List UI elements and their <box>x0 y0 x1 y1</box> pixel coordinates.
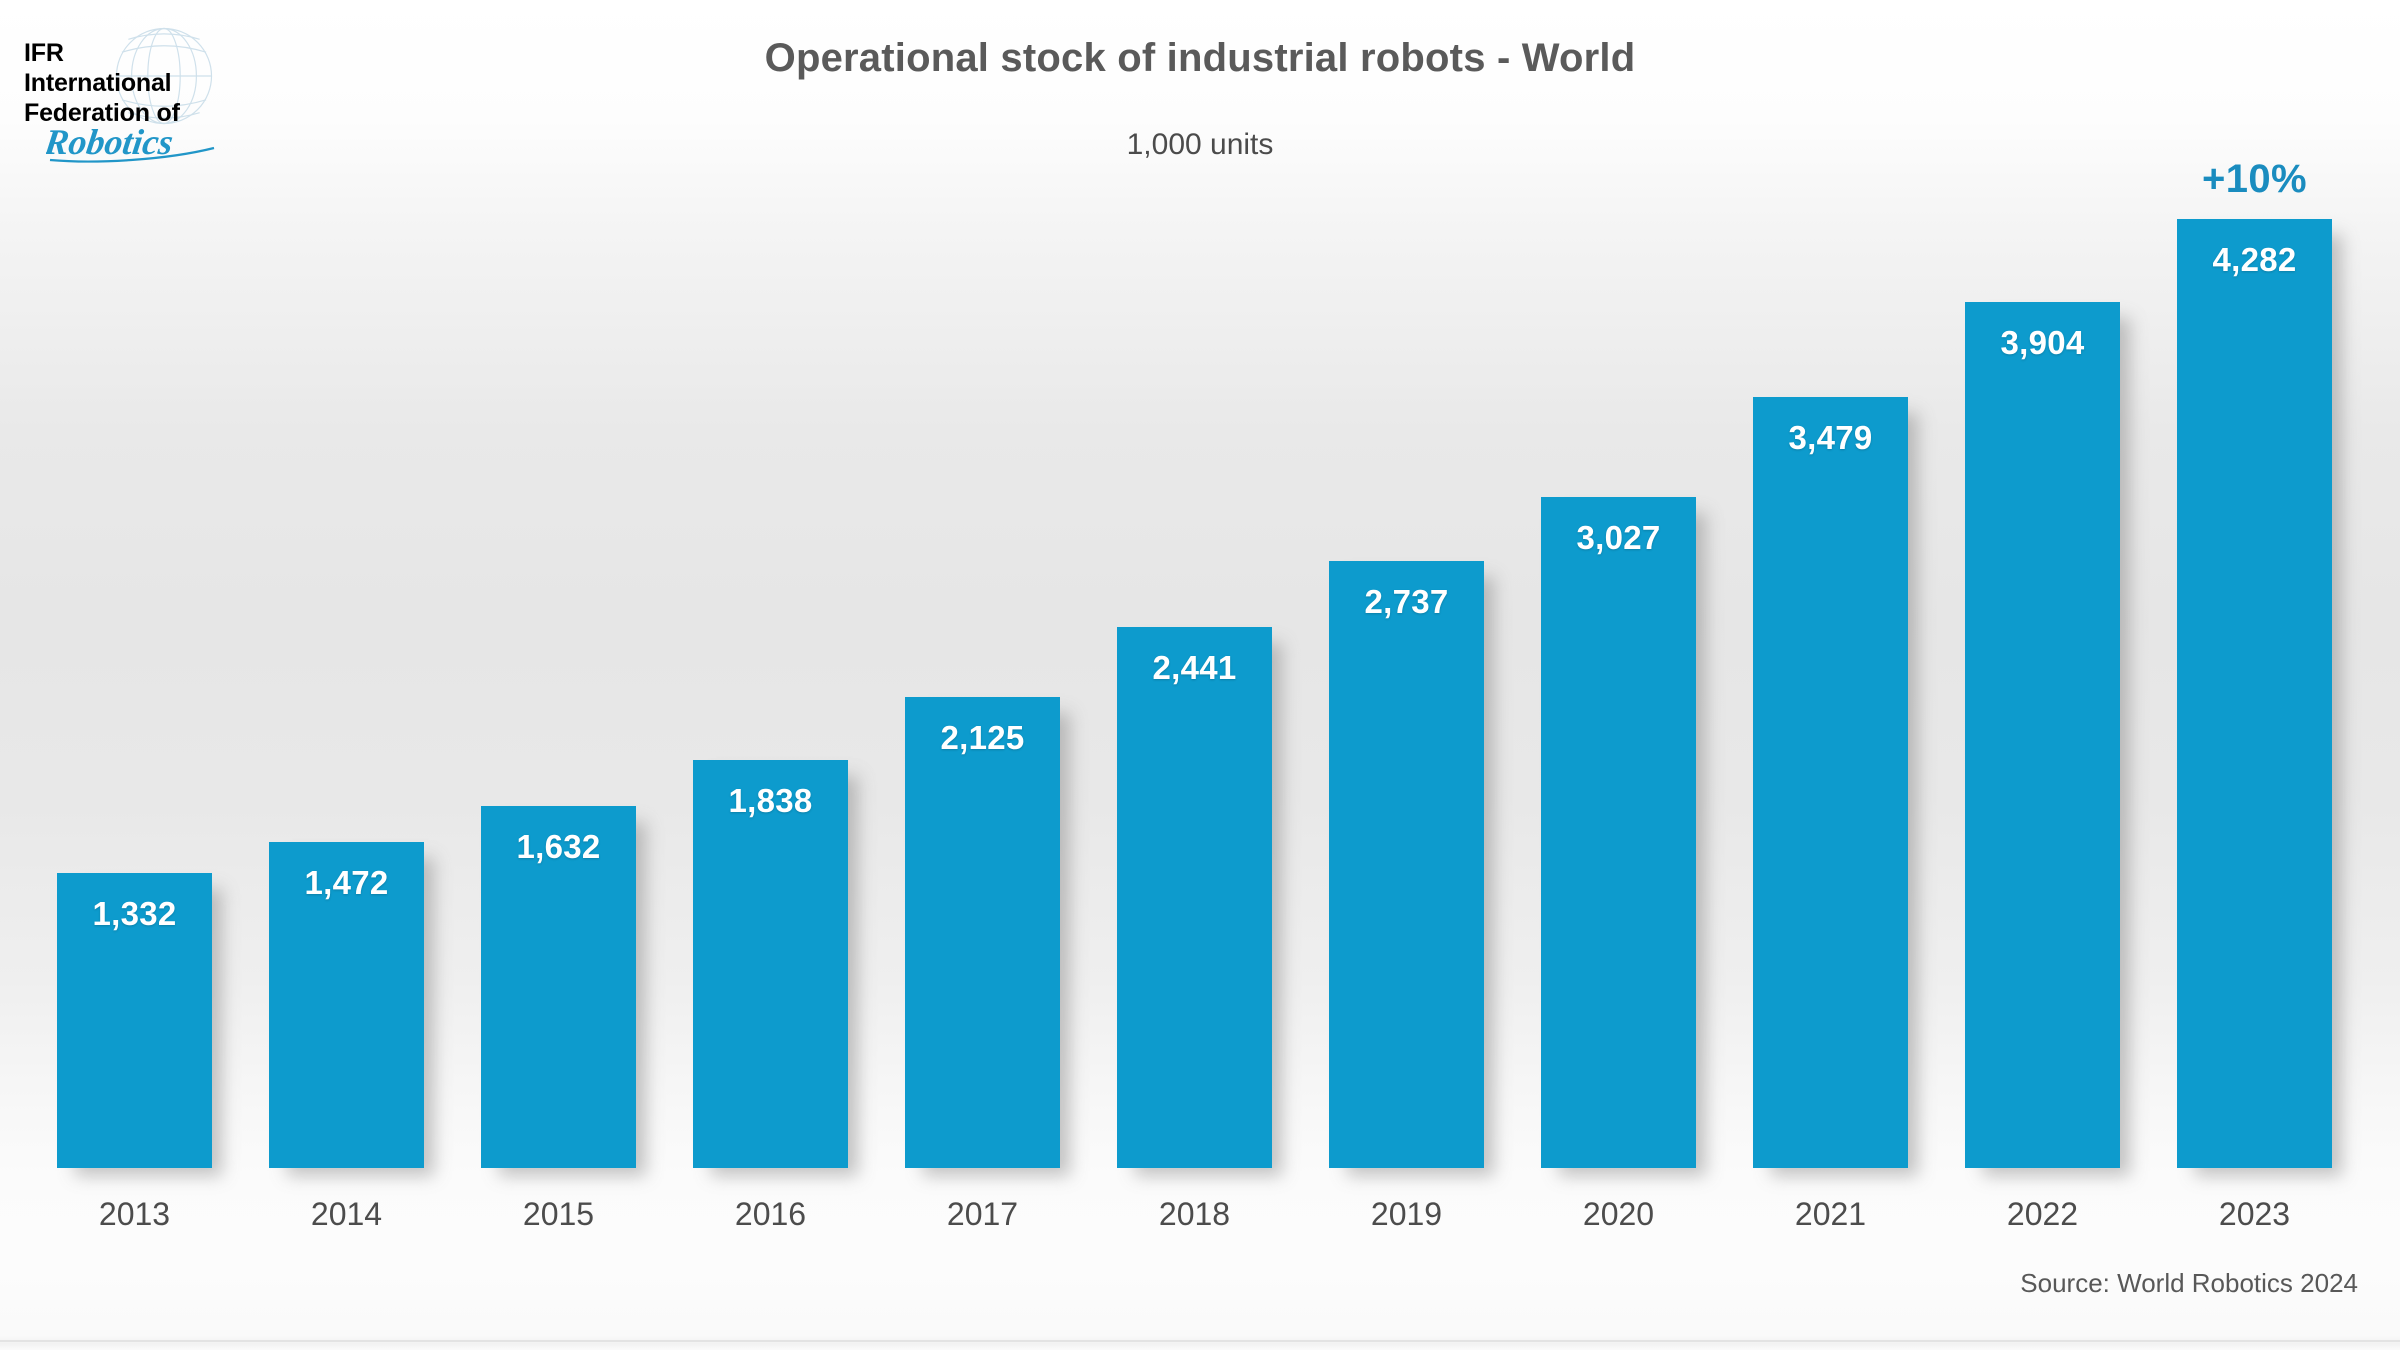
bar-value-label-2016: 1,838 <box>693 782 848 820</box>
bar-value-label-2020: 3,027 <box>1541 519 1696 557</box>
bar-value-label-2023: 4,282 <box>2177 241 2332 279</box>
bar-chart-plot: 1,33220131,47220141,63220151,83820162,12… <box>0 0 2400 1350</box>
x-axis-label-2015: 2015 <box>481 1196 636 1233</box>
x-axis-label-2017: 2017 <box>905 1196 1060 1233</box>
growth-annotation: +10% <box>2177 157 2332 202</box>
bar-2016[interactable] <box>693 760 848 1168</box>
chart-page: IFR International Federation of Robotics… <box>0 0 2400 1350</box>
bar-value-label-2017: 2,125 <box>905 719 1060 757</box>
bar-group: 1,632 <box>481 806 636 1168</box>
bottom-divider <box>0 1340 2400 1342</box>
bar-value-label-2015: 1,632 <box>481 828 636 866</box>
x-axis-label-2018: 2018 <box>1117 1196 1272 1233</box>
x-axis-label-2016: 2016 <box>693 1196 848 1233</box>
bar-2022[interactable] <box>1965 302 2120 1168</box>
x-axis-label-2014: 2014 <box>269 1196 424 1233</box>
bar-value-label-2014: 1,472 <box>269 864 424 902</box>
bar-group: 3,904 <box>1965 302 2120 1168</box>
x-axis-label-2019: 2019 <box>1329 1196 1484 1233</box>
x-axis-label-2021: 2021 <box>1753 1196 1908 1233</box>
bar-group: 3,027 <box>1541 497 1696 1168</box>
x-axis-label-2020: 2020 <box>1541 1196 1696 1233</box>
bar-2019[interactable] <box>1329 561 1484 1168</box>
bar-group: 1,332 <box>57 873 212 1168</box>
bar-group: 4,282 <box>2177 219 2332 1168</box>
bar-group: 3,479 <box>1753 397 1908 1168</box>
bar-group: 2,737 <box>1329 561 1484 1168</box>
bar-value-label-2022: 3,904 <box>1965 324 2120 362</box>
bar-group: 1,472 <box>269 842 424 1168</box>
x-axis-label-2023: 2023 <box>2177 1196 2332 1233</box>
bar-2018[interactable] <box>1117 627 1272 1168</box>
x-axis-label-2022: 2022 <box>1965 1196 2120 1233</box>
bar-2021[interactable] <box>1753 397 1908 1168</box>
bar-group: 2,125 <box>905 697 1060 1168</box>
bar-value-label-2018: 2,441 <box>1117 649 1272 687</box>
bar-2020[interactable] <box>1541 497 1696 1168</box>
bar-group: 1,838 <box>693 760 848 1168</box>
source-note: Source: World Robotics 2024 <box>2020 1268 2358 1299</box>
x-axis-label-2013: 2013 <box>57 1196 212 1233</box>
bar-value-label-2021: 3,479 <box>1753 419 1908 457</box>
bar-value-label-2013: 1,332 <box>57 895 212 933</box>
bar-2023[interactable] <box>2177 219 2332 1168</box>
bar-group: 2,441 <box>1117 627 1272 1168</box>
bar-2017[interactable] <box>905 697 1060 1168</box>
bar-value-label-2019: 2,737 <box>1329 583 1484 621</box>
